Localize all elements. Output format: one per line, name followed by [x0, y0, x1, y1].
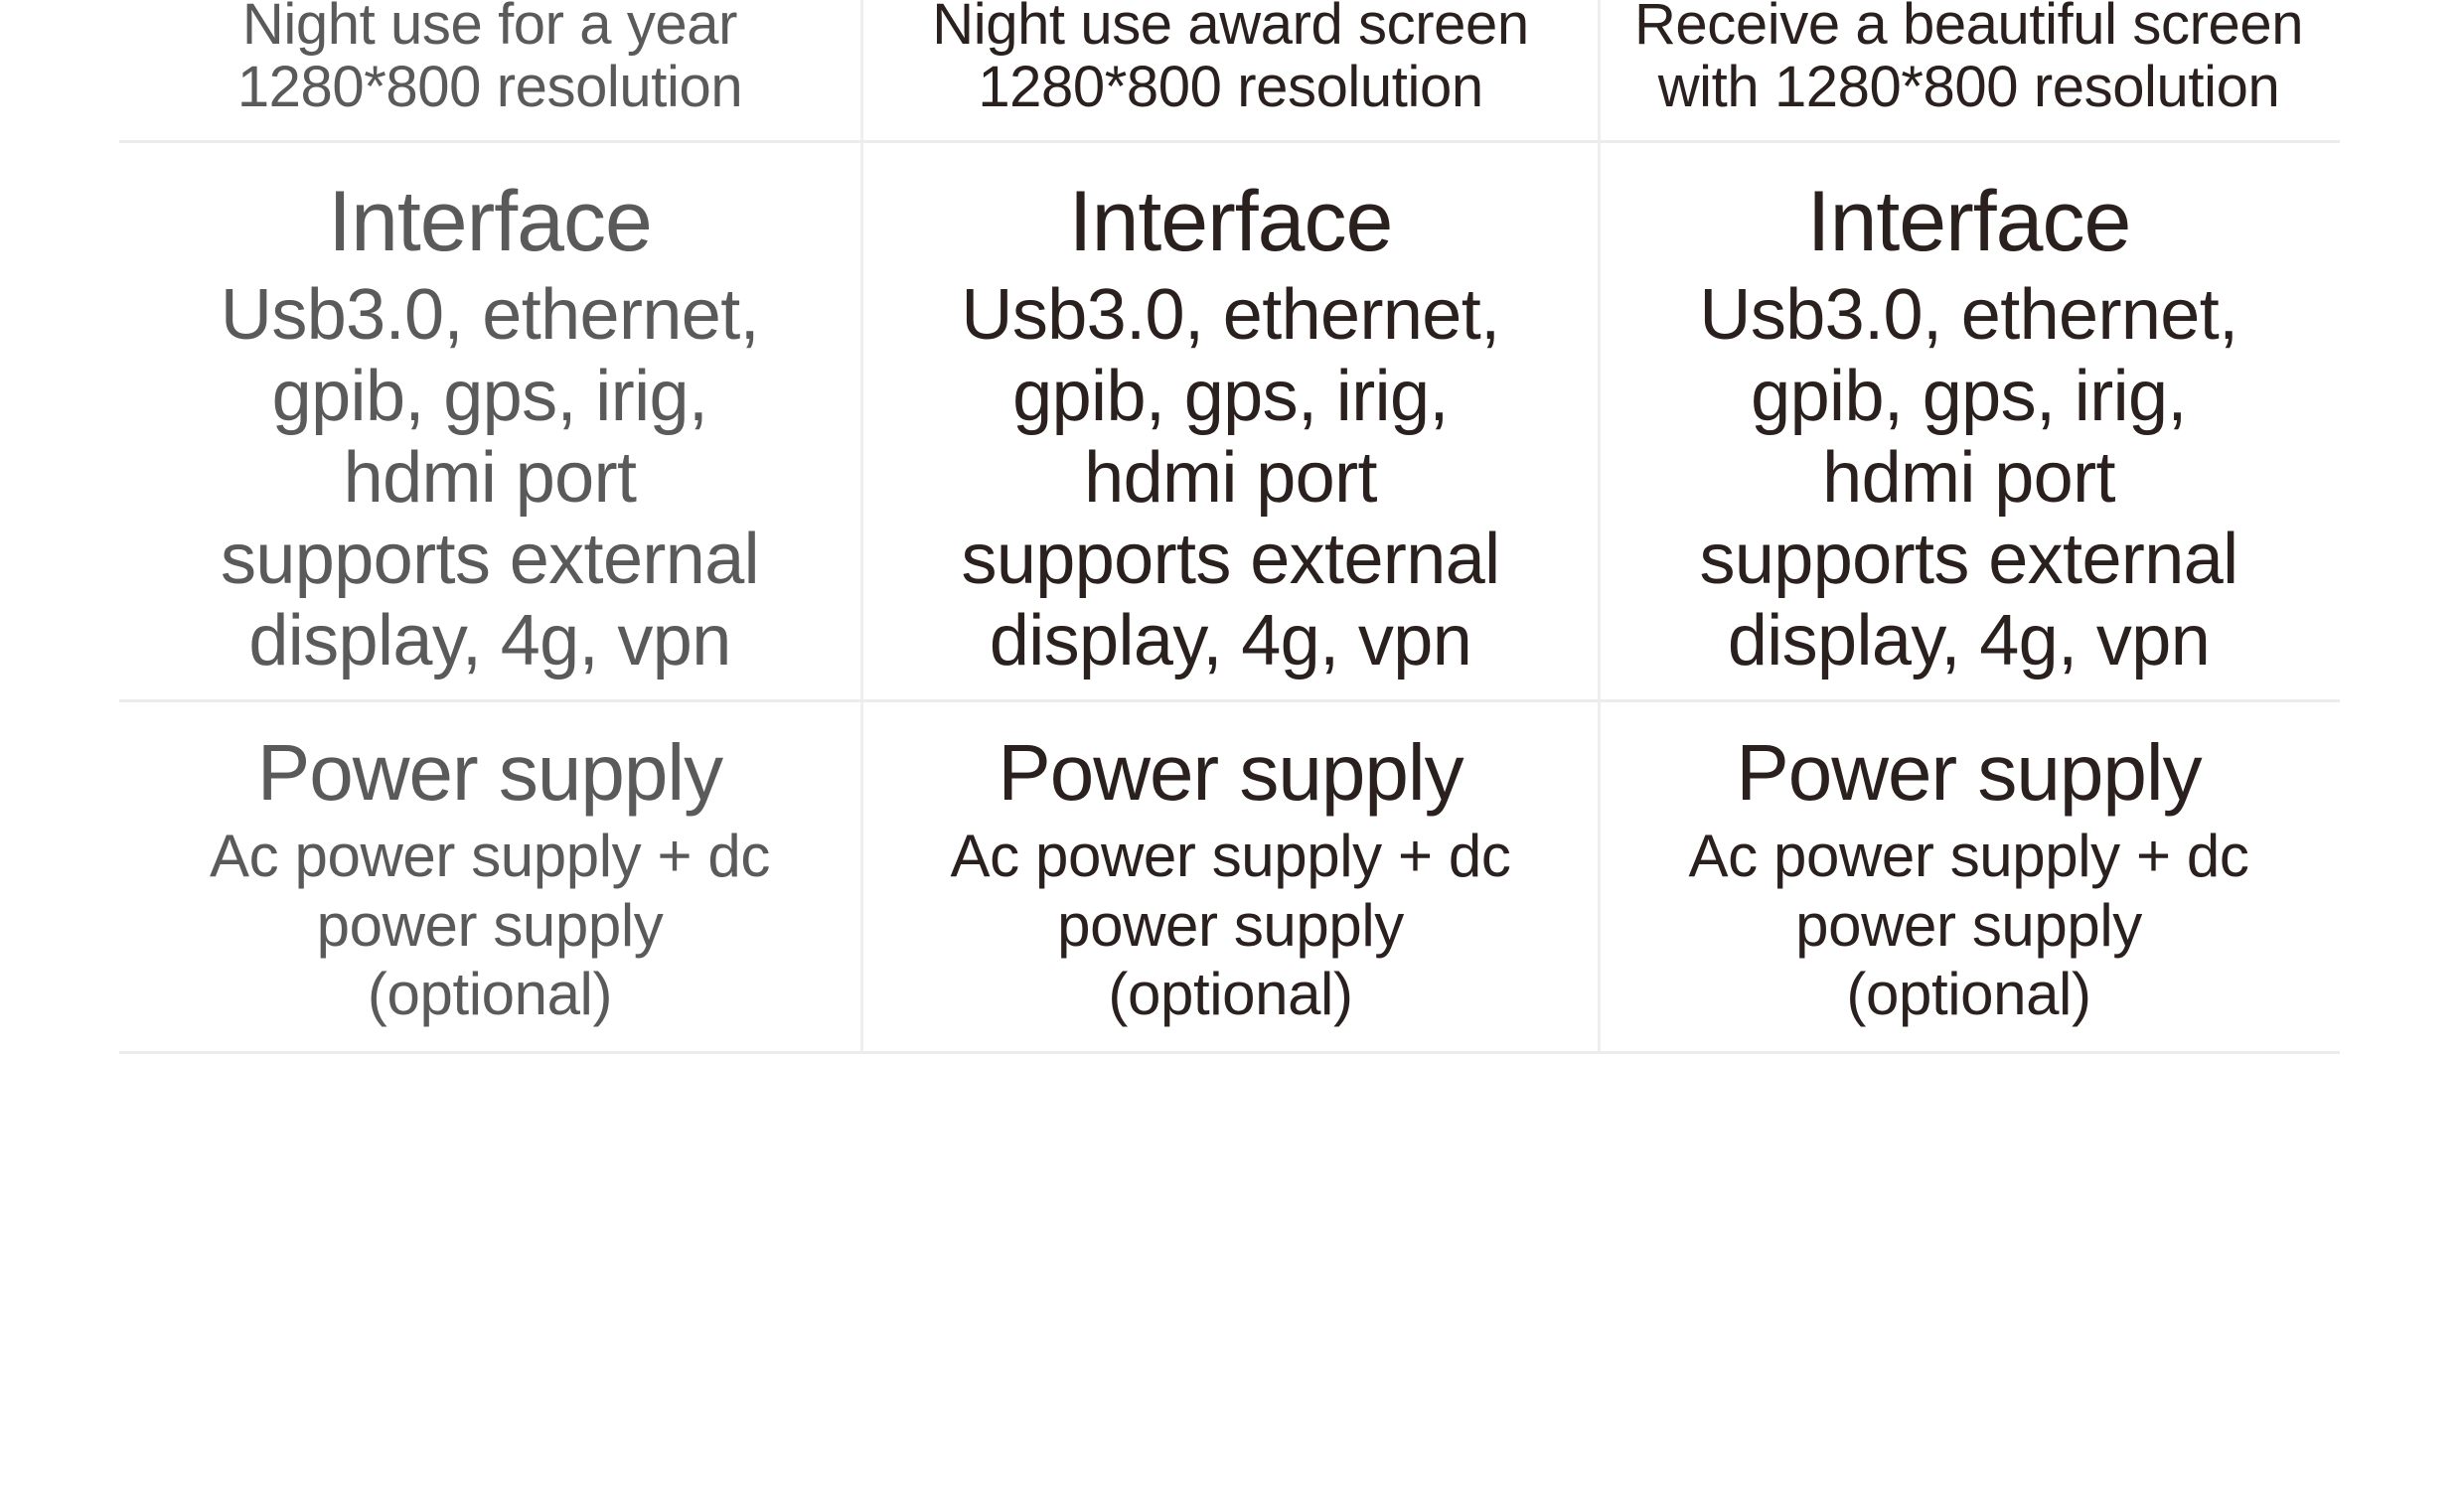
power-supply-title-column-1: Power supply — [127, 732, 852, 814]
interface-cell-column-2: Interface Usb3.0, ethernet, gpib, gps, i… — [860, 143, 1598, 699]
spec-comparison-table: Night use for a year 1280*800 resolution… — [119, 0, 2340, 1054]
power-supply-body-column-1: Ac power supply + dc power supply (optio… — [127, 822, 852, 1029]
power-supply-cell-column-2: Power supply Ac power supply + dc power … — [860, 702, 1598, 1050]
table-header-row: Night use for a year 1280*800 resolution… — [119, 0, 2340, 143]
interface-cell-column-1: Interface Usb3.0, ethernet, gpib, gps, i… — [119, 143, 860, 699]
power-supply-cell-column-3: Power supply Ac power supply + dc power … — [1598, 702, 2337, 1050]
interface-body-column-3: Usb3.0, ethernet, gpib, gps, irig, hdmi … — [1609, 274, 2329, 681]
column-3-header-text: Receive a beautiful screen with 1280*800… — [1609, 0, 2329, 118]
power-supply-title-column-2: Power supply — [871, 732, 1590, 814]
header-cell-column-1: Night use for a year 1280*800 resolution — [119, 0, 860, 140]
column-2-header-text: Night use award screen 1280*800 resoluti… — [871, 0, 1590, 118]
power-supply-cell-column-1: Power supply Ac power supply + dc power … — [119, 702, 860, 1050]
table-row-power-supply: Power supply Ac power supply + dc power … — [119, 702, 2340, 1053]
interface-title-column-3: Interface — [1609, 179, 2329, 266]
header-cell-column-3: Receive a beautiful screen with 1280*800… — [1598, 0, 2337, 140]
interface-cell-column-3: Interface Usb3.0, ethernet, gpib, gps, i… — [1598, 143, 2337, 699]
power-supply-title-column-3: Power supply — [1609, 732, 2329, 814]
interface-title-column-2: Interface — [871, 179, 1590, 266]
column-1-header-text: Night use for a year 1280*800 resolution — [127, 0, 852, 118]
interface-body-column-2: Usb3.0, ethernet, gpib, gps, irig, hdmi … — [871, 274, 1590, 681]
table-row-interface: Interface Usb3.0, ethernet, gpib, gps, i… — [119, 143, 2340, 702]
power-supply-body-column-3: Ac power supply + dc power supply (optio… — [1609, 822, 2329, 1029]
power-supply-body-column-2: Ac power supply + dc power supply (optio… — [871, 822, 1590, 1029]
header-cell-column-2: Night use award screen 1280*800 resoluti… — [860, 0, 1598, 140]
interface-body-column-1: Usb3.0, ethernet, gpib, gps, irig, hdmi … — [127, 274, 852, 681]
interface-title-column-1: Interface — [127, 179, 852, 266]
